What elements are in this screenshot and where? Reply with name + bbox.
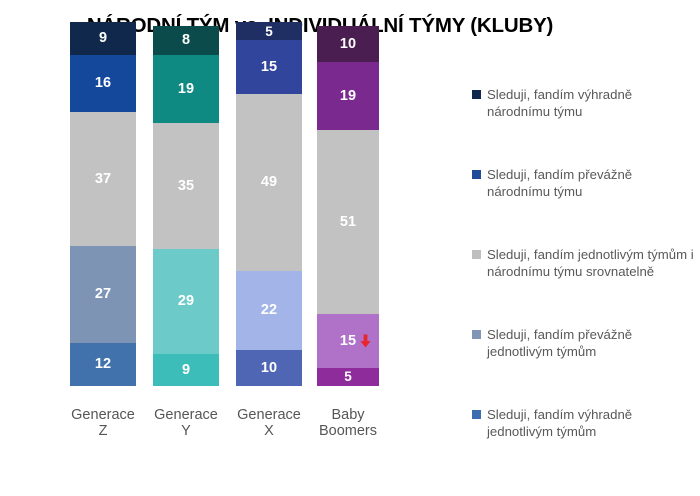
bar-segment-value: 12 (95, 357, 111, 372)
bar-segment-value: 5 (344, 370, 352, 384)
bar-segment[interactable]: 29 (153, 249, 219, 353)
bar-segment-value: 10 (340, 37, 356, 52)
category-label-line1: Generace (55, 407, 151, 424)
bar-segment[interactable]: 15 (236, 40, 302, 94)
bar-segment[interactable]: 10 (317, 26, 379, 62)
bar-segment-value: 29 (178, 294, 194, 309)
bar-segment[interactable]: 5 (236, 22, 302, 40)
legend-item-label: Sleduji, fandím převážně národnímu týmu (487, 166, 696, 200)
bar-column[interactable]: 515492210 (236, 22, 302, 386)
bar-segment[interactable]: 5 (317, 368, 379, 386)
legend-item-label: Sleduji, fandím výhradně jednotlivým tým… (487, 406, 696, 440)
stacked-bar: 101951155 (317, 26, 379, 386)
bar-segment[interactable]: 19 (153, 55, 219, 123)
legend-item-label: Sleduji, fandím jednotlivým týmům i náro… (487, 246, 696, 280)
bar-segment[interactable]: 49 (236, 94, 302, 270)
bar-column[interactable]: 101951155 (317, 26, 379, 386)
bar-segment-value: 35 (178, 179, 194, 194)
chart-page: NÁRODNÍ TÝM vs. INDIVIDUÁLNÍ TÝMY (KLUBY… (0, 0, 700, 496)
bar-segment-value: 8 (182, 33, 190, 48)
legend-item[interactable]: Sleduji, fandím výhradně národnímu týmu (472, 86, 696, 120)
legend-item[interactable]: Sleduji, fandím jednotlivým týmům i náro… (472, 246, 696, 280)
bar-segment-value: 19 (178, 82, 194, 97)
category-label-line2: Boomers (300, 423, 396, 440)
bar-segment[interactable]: 16 (70, 55, 136, 113)
bar-segment[interactable]: 35 (153, 123, 219, 249)
bar-segment[interactable]: 8 (153, 26, 219, 55)
bar-segment[interactable]: 9 (153, 354, 219, 386)
category-label-line2: Y (138, 423, 234, 440)
bar-segment-value: 19 (340, 89, 356, 104)
bar-segment-value: 15 (340, 334, 356, 349)
bar-segment-value: 27 (95, 287, 111, 302)
category-label: BabyBoomers (300, 407, 396, 440)
bar-segment-value: 37 (95, 172, 111, 187)
bar-segment[interactable]: 51 (317, 130, 379, 314)
legend-item[interactable]: Sleduji, fandím výhradně jednotlivým tým… (472, 406, 696, 440)
bar-segment-value: 5 (265, 25, 273, 39)
legend-swatch-icon (472, 410, 481, 419)
stacked-bar: 916372712 (70, 22, 136, 386)
bar-segment-value: 16 (95, 76, 111, 91)
category-label-line1: Baby (300, 407, 396, 424)
bar-column[interactable]: 916372712 (70, 22, 136, 386)
bar-segment[interactable]: 10 (236, 350, 302, 386)
legend-swatch-icon (472, 250, 481, 259)
legend-swatch-icon (472, 90, 481, 99)
bar-segment-value: 9 (182, 363, 190, 378)
category-label: GeneraceZ (55, 407, 151, 440)
bar-segment[interactable]: 12 (70, 343, 136, 386)
red-down-arrow-icon (360, 335, 371, 348)
legend-item[interactable]: Sleduji, fandím převážně národnímu týmu (472, 166, 696, 200)
bar-segment-value: 22 (261, 303, 277, 318)
plot-area: 916372712GeneraceZ81935299GeneraceY51549… (0, 60, 460, 446)
stacked-bar: 81935299 (153, 26, 219, 386)
legend-item[interactable]: Sleduji, fandím převážně jednotlivým tým… (472, 326, 696, 360)
bar-segment[interactable]: 9 (70, 22, 136, 54)
legend-item-label: Sleduji, fandím výhradně národnímu týmu (487, 86, 696, 120)
stacked-bar: 515492210 (236, 22, 302, 386)
bar-column[interactable]: 81935299 (153, 26, 219, 386)
category-label-line2: Z (55, 423, 151, 440)
legend-swatch-icon (472, 170, 481, 179)
category-label: GeneraceY (138, 407, 234, 440)
legend-item-label: Sleduji, fandím převážně jednotlivým tým… (487, 326, 696, 360)
category-label-line1: Generace (138, 407, 234, 424)
bar-segment-value: 10 (261, 361, 277, 376)
bar-segment[interactable]: 19 (317, 62, 379, 130)
bar-segment[interactable]: 37 (70, 112, 136, 245)
bar-segment[interactable]: 15 (317, 314, 379, 368)
bar-segment-value: 15 (261, 60, 277, 75)
bar-segment-value: 49 (261, 175, 277, 190)
legend-swatch-icon (472, 330, 481, 339)
bar-segment[interactable]: 27 (70, 246, 136, 343)
bar-segment-value: 9 (99, 31, 107, 46)
bar-segment[interactable]: 22 (236, 271, 302, 350)
bar-segment-value: 51 (340, 215, 356, 230)
